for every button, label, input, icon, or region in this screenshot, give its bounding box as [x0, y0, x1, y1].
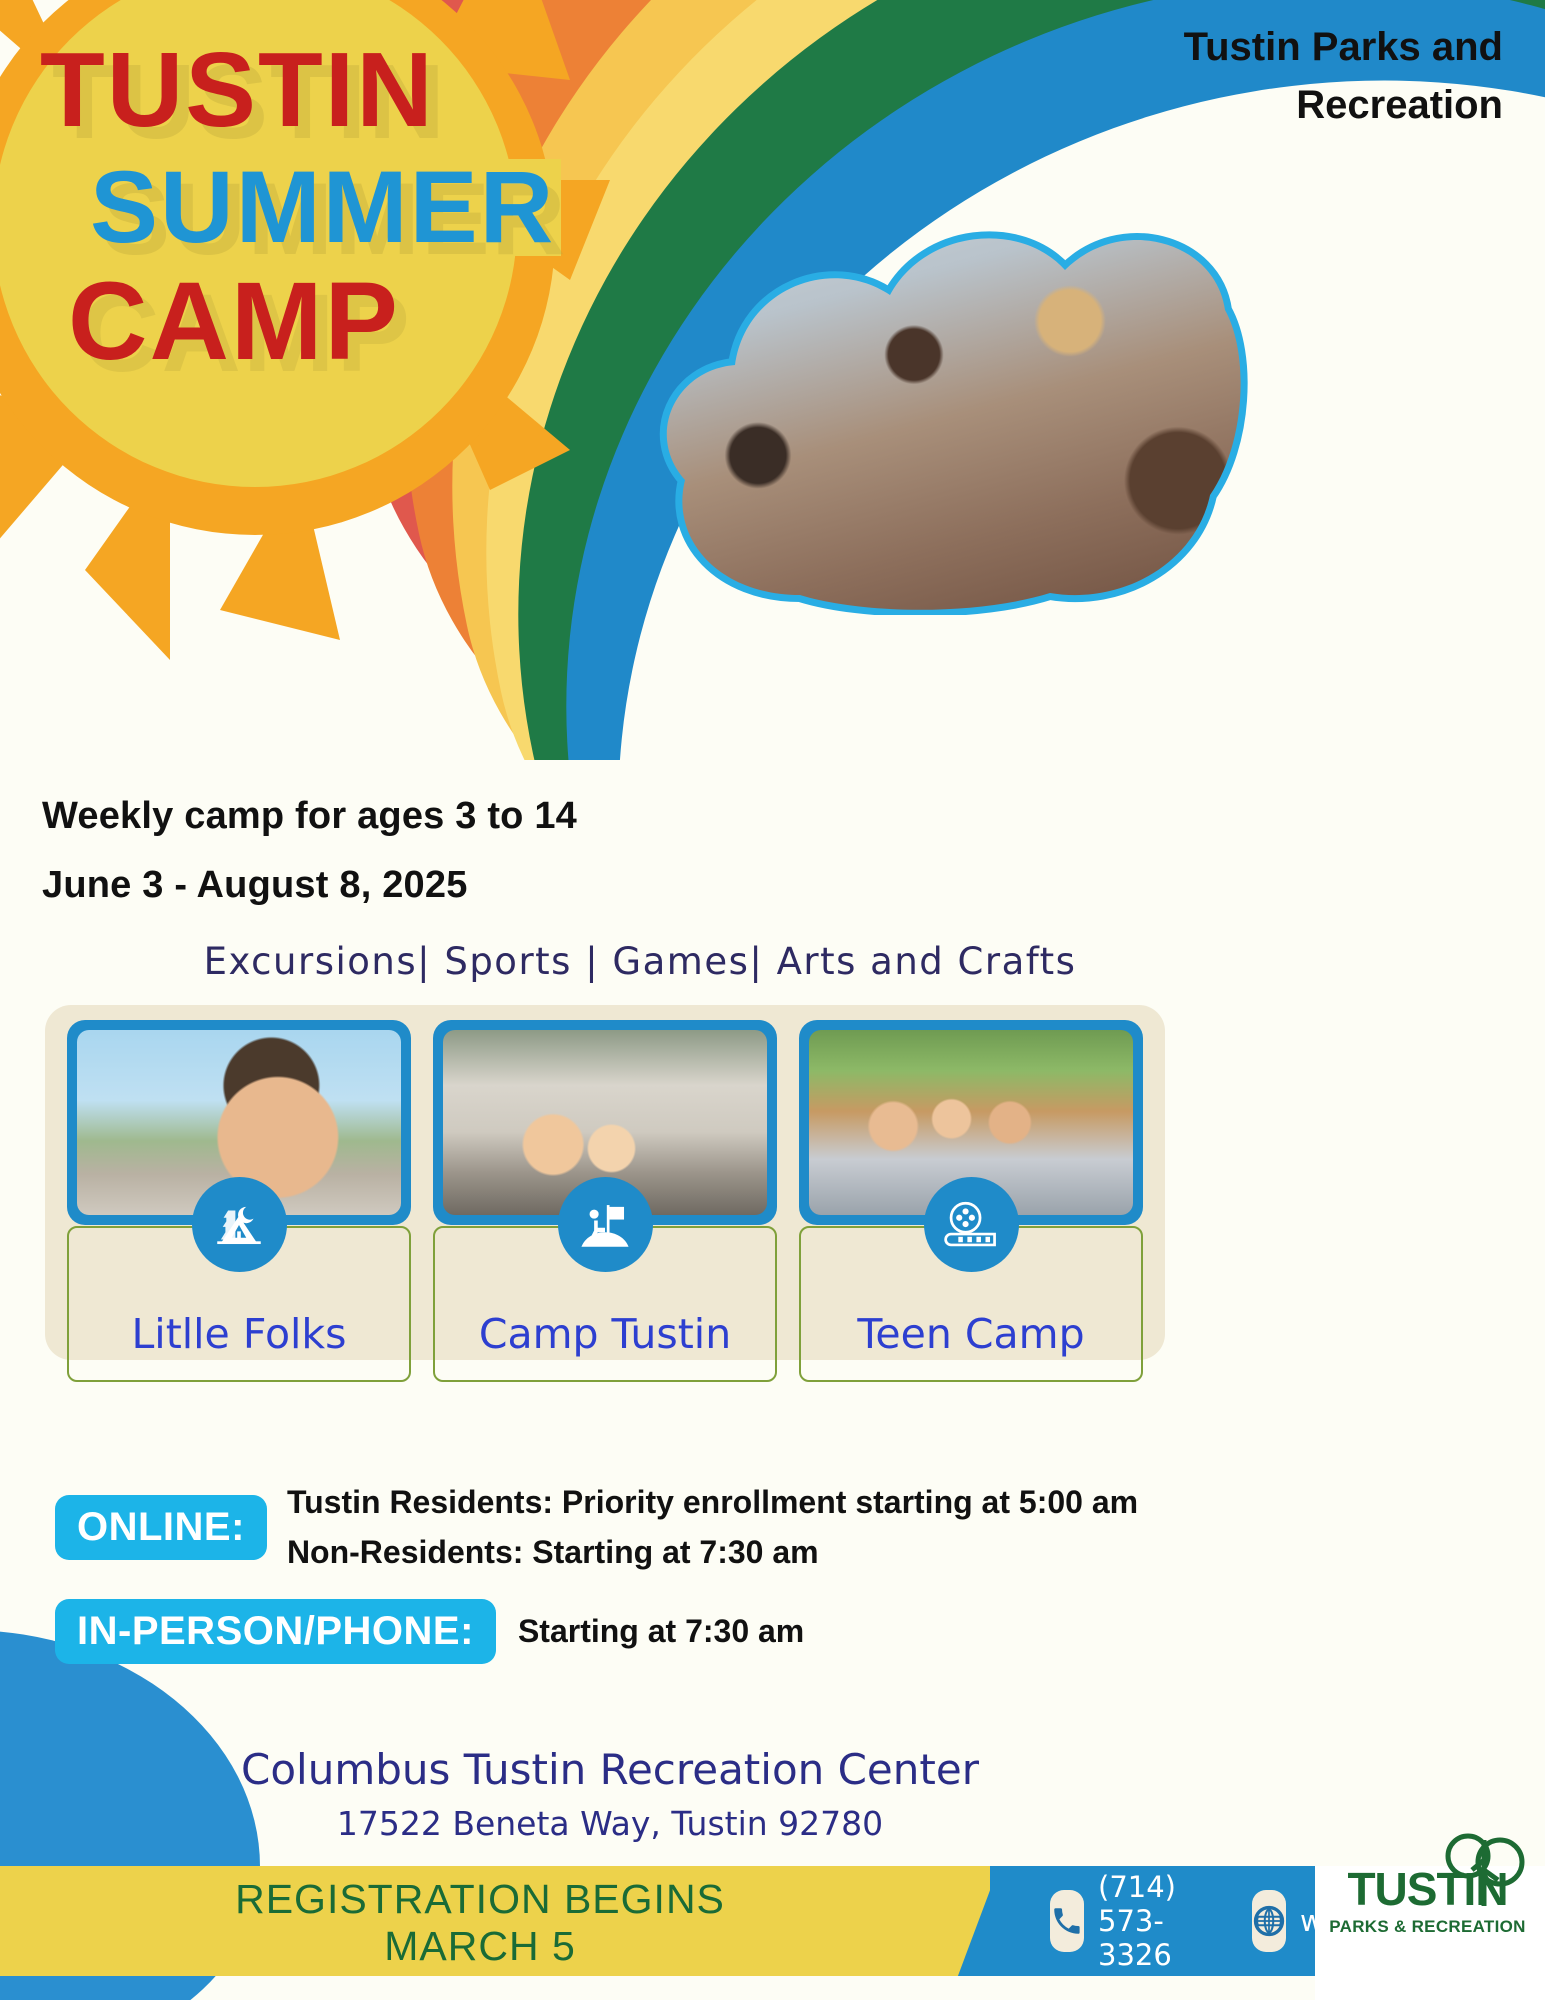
title-line-1: TUSTIN — [40, 40, 740, 141]
phone-icon — [1050, 1890, 1084, 1952]
venue-info: Columbus Tustin Recreation Center 17522 … — [0, 1745, 1220, 1843]
cloud-photo-collage — [650, 195, 1250, 615]
inperson-time: Starting at 7:30 am — [518, 1613, 804, 1650]
registration-info: ONLINE: Tustin Residents: Priority enrol… — [55, 1478, 1125, 1664]
camp-dates: June 3 - August 8, 2025 — [42, 864, 577, 907]
tree-icon — [1438, 1830, 1528, 1910]
page-title: TUSTIN SUMMER CAMP — [40, 40, 740, 374]
title-line-2: SUMMER — [84, 159, 561, 256]
registration-begins-line1: REGISTRATION BEGINS — [0, 1876, 960, 1923]
camp-activities: Excursions| Sports | Games| Arts and Cra… — [0, 940, 1280, 983]
tustin-parks-logo: TUSTIN PARKS & RECREATION — [1320, 1866, 1535, 1937]
footer-bar: REGISTRATION BEGINS MARCH 5 (714) 573-33… — [0, 1866, 1545, 1976]
registration-begins-line2: MARCH 5 — [0, 1923, 960, 1970]
camp-card-label: Litlle Folks — [131, 1310, 346, 1358]
organization-name: Tustin Parks and Recreation — [1073, 18, 1503, 134]
venue-address: 17522 Beneta Way, Tustin 92780 — [0, 1804, 1220, 1843]
online-residents-line: Tustin Residents: Priority enrollment st… — [287, 1478, 1138, 1528]
inperson-badge: IN-PERSON/PHONE: — [55, 1599, 496, 1664]
title-line-3: CAMP — [68, 270, 740, 375]
camp-card-camp-tustin[interactable]: Camp Tustin — [433, 1020, 777, 1382]
globe-icon — [1252, 1890, 1286, 1952]
camp-cards: Litlle Folks Camp Tustin — [45, 1020, 1165, 1382]
camp-card-label: Camp Tustin — [479, 1310, 731, 1358]
film-reel-icon — [924, 1177, 1019, 1272]
camp-info: Weekly camp for ages 3 to 14 June 3 - Au… — [42, 795, 577, 933]
camp-card-little-folks[interactable]: Litlle Folks — [67, 1020, 411, 1382]
flag-hill-icon — [558, 1177, 653, 1272]
camp-card-teen-camp[interactable]: Teen Camp — [799, 1020, 1143, 1382]
phone-number[interactable]: (714) 573-3326 — [1098, 1870, 1212, 1972]
venue-name: Columbus Tustin Recreation Center — [0, 1745, 1220, 1794]
online-badge: ONLINE: — [55, 1495, 267, 1560]
camp-ages: Weekly camp for ages 3 to 14 — [42, 795, 577, 838]
flyer-page: Tustin Parks and Recreation TUSTIN SUMME… — [0, 0, 1545, 2000]
online-nonresidents-line: Non-Residents: Starting at 7:30 am — [287, 1528, 1138, 1578]
camp-card-label: Teen Camp — [857, 1310, 1084, 1358]
logo-subtitle: PARKS & RECREATION — [1320, 1917, 1535, 1937]
tent-icon — [192, 1177, 287, 1272]
registration-begins: REGISTRATION BEGINS MARCH 5 — [0, 1876, 960, 1970]
